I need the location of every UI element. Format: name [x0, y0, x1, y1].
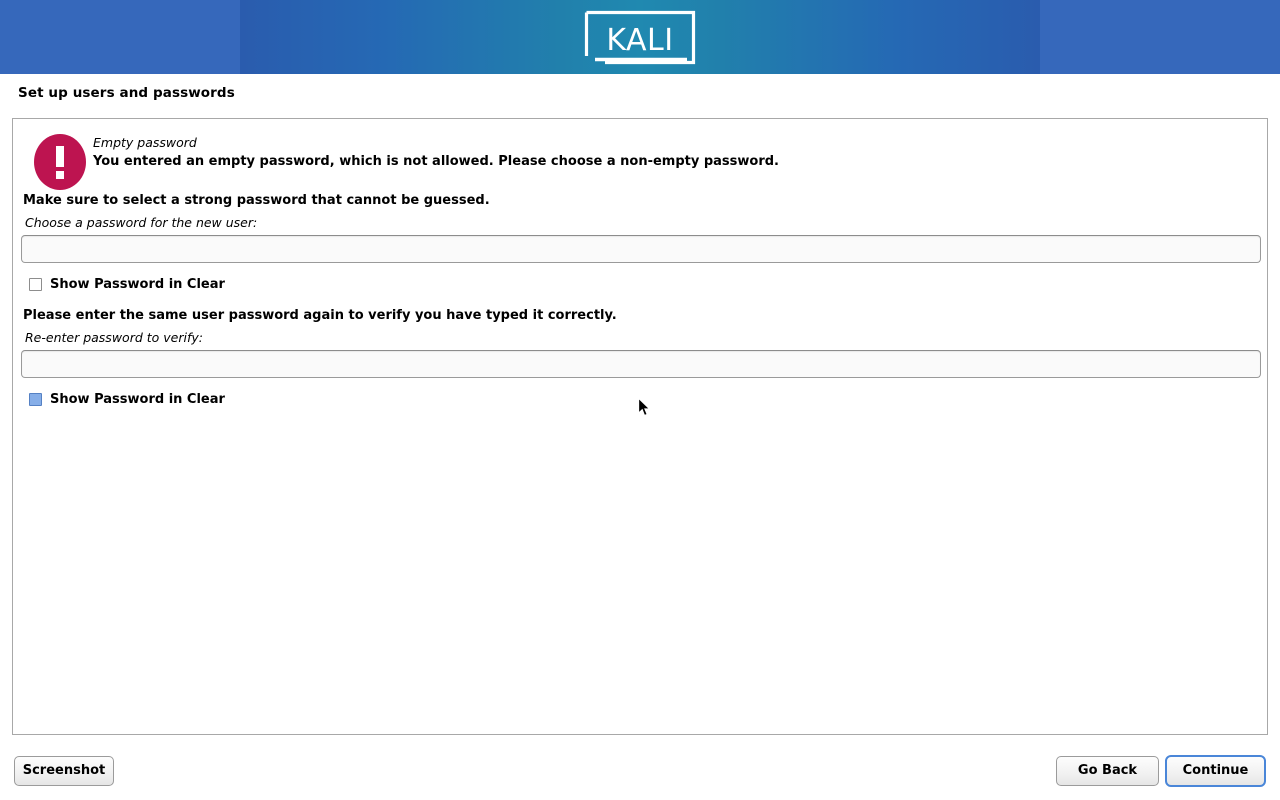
page-title: Set up users and passwords — [18, 85, 235, 101]
continue-button[interactable]: Continue — [1165, 755, 1266, 787]
show-password-label-2: Show Password in Clear — [50, 392, 225, 407]
show-password-label-1: Show Password in Clear — [50, 277, 225, 292]
password-field-label: Choose a password for the new user: — [25, 215, 257, 230]
password-input[interactable] — [21, 235, 1261, 263]
kali-logo-text: KALI — [606, 23, 673, 58]
alert-title: Empty password — [93, 135, 197, 150]
go-back-button[interactable]: Go Back — [1056, 756, 1159, 786]
verify-password-note: Please enter the same user password agai… — [23, 308, 617, 323]
strong-password-note: Make sure to select a strong password th… — [23, 193, 490, 208]
show-password-checkbox-2[interactable] — [29, 393, 42, 406]
kali-dragon-frame-logo: KALI — [583, 9, 697, 66]
verify-password-input[interactable] — [21, 350, 1261, 378]
error-exclamation-icon — [34, 134, 86, 190]
verify-field-label: Re-enter password to verify: — [25, 330, 203, 345]
content-panel: Empty password You entered an empty pass… — [12, 118, 1268, 735]
show-password-checkbox-1[interactable] — [29, 278, 42, 291]
installer-window: KALI Set up users and passwords Empty pa… — [0, 0, 1280, 800]
kali-banner: KALI — [0, 0, 1280, 74]
screenshot-button[interactable]: Screenshot — [14, 756, 114, 786]
alert-message: You entered an empty password, which is … — [93, 154, 779, 169]
show-password-checkbox-row-1[interactable]: Show Password in Clear — [29, 276, 225, 292]
show-password-checkbox-row-2[interactable]: Show Password in Clear — [29, 391, 225, 407]
